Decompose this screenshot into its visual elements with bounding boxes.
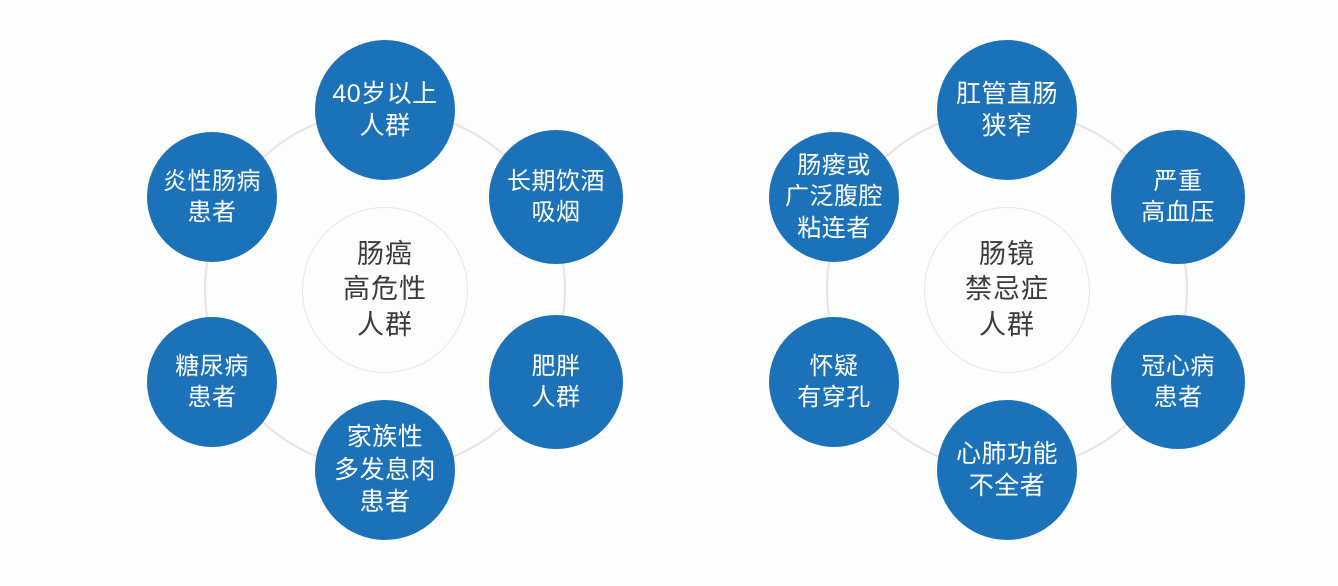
node-left-lower[interactable]: 糖尿病 患者: [147, 317, 277, 447]
node-label: 40岁以上 人群: [332, 78, 437, 143]
node-left-lower[interactable]: 怀疑 有穿孔: [769, 317, 899, 447]
node-top[interactable]: 肛管直肠 狭窄: [937, 40, 1077, 180]
node-top[interactable]: 40岁以上 人群: [315, 40, 455, 180]
node-right-upper[interactable]: 长期饮酒 吸烟: [489, 130, 623, 264]
node-label: 怀疑 有穿孔: [797, 351, 871, 413]
node-right-upper[interactable]: 严重 高血压: [1111, 130, 1245, 264]
node-label: 家族性 多发息肉 患者: [334, 421, 436, 519]
node-left-upper[interactable]: 肠瘘或 广泛腹腔 粘连者: [769, 132, 899, 262]
node-right-lower[interactable]: 肥胖 人群: [489, 315, 623, 449]
node-right-lower[interactable]: 冠心病 患者: [1111, 315, 1245, 449]
node-label: 肛管直肠 狭窄: [956, 78, 1058, 143]
hub-circle: 肠癌 高危性 人群: [302, 207, 468, 373]
hub-label: 肠镜 禁忌症 人群: [965, 237, 1049, 344]
hub-label: 肠癌 高危性 人群: [343, 237, 427, 344]
node-label: 肠瘘或 广泛腹腔 粘连者: [785, 150, 883, 244]
node-left-upper[interactable]: 炎性肠病 患者: [147, 132, 277, 262]
node-label: 糖尿病 患者: [175, 351, 249, 413]
node-label: 肥胖 人群: [532, 351, 581, 413]
node-label: 心肺功能 不全者: [956, 438, 1058, 503]
diagram-canvas: 炎性肠病 患者 40岁以上 人群 长期饮酒 吸烟 肥胖 人群 家族性 多发息肉 …: [0, 0, 1338, 586]
cluster-intestinal-cancer-high-risk: 炎性肠病 患者 40岁以上 人群 长期饮酒 吸烟 肥胖 人群 家族性 多发息肉 …: [55, 0, 715, 586]
cluster-colonoscopy-contraindication: 肠瘘或 广泛腹腔 粘连者 肛管直肠 狭窄 严重 高血压 冠心病 患者 心肺功能 …: [677, 0, 1337, 586]
node-label: 冠心病 患者: [1141, 351, 1215, 413]
hub-circle: 肠镜 禁忌症 人群: [924, 207, 1090, 373]
node-label: 炎性肠病 患者: [163, 166, 261, 228]
node-label: 严重 高血压: [1141, 166, 1215, 228]
node-bottom[interactable]: 心肺功能 不全者: [937, 400, 1077, 540]
node-bottom[interactable]: 家族性 多发息肉 患者: [315, 400, 455, 540]
node-label: 长期饮酒 吸烟: [507, 166, 605, 228]
